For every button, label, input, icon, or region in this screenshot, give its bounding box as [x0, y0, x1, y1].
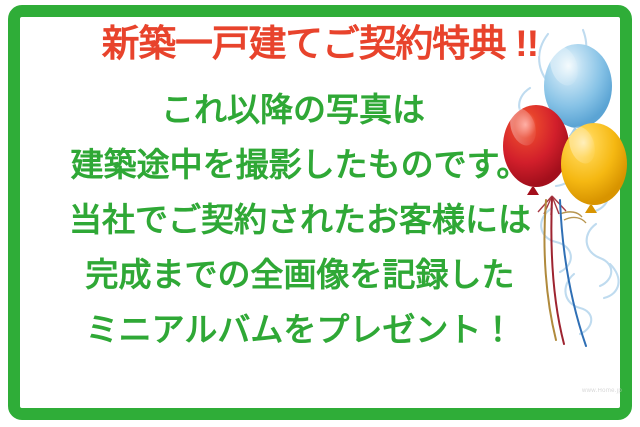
promo-banner: 新築一戸建てご契約特典 !! これ以降の写真は 建築途中を撮影したものです。 当…	[0, 0, 640, 427]
headline: 新築一戸建てご契約特典 !!	[102, 25, 538, 62]
banner-content: 新築一戸建てご契約特典 !! これ以降の写真は 建築途中を撮影したものです。 当…	[20, 17, 620, 408]
body-line-2: 建築途中を撮影したものです。	[71, 137, 530, 192]
body-line-1: これ以降の写真は	[161, 82, 425, 137]
body-line-3: 当社でご契約されたお客様には	[69, 192, 531, 247]
body-line-5: ミニアルバムをプレゼント！	[86, 302, 515, 357]
body-text-block: これ以降の写真は 建築途中を撮影したものです。 当社でご契約されたお客様には 完…	[20, 82, 620, 357]
watermark-text: www.Home.jp	[582, 388, 622, 394]
body-line-4: 完成までの全画像を記録した	[86, 247, 515, 302]
